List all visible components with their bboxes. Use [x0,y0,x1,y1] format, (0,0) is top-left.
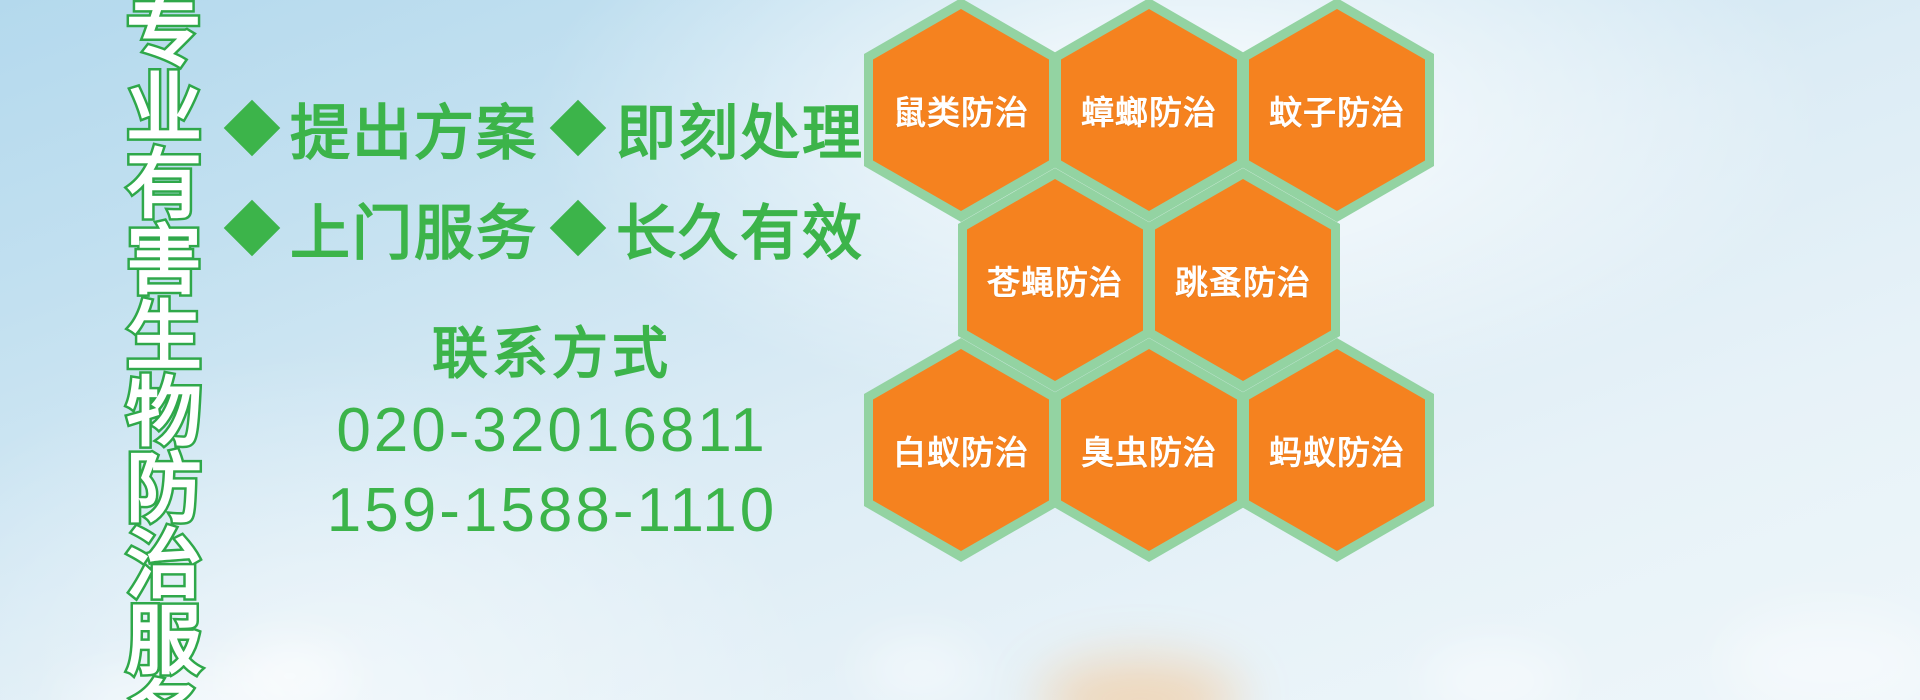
service-label: 蚂蚁防治 [1240,338,1434,562]
mobile-phone-number[interactable]: 159-1588-1110 [232,471,872,550]
feature-item: 提出方案 [232,85,538,172]
service-label: 臭虫防治 [1052,338,1246,562]
vertical-slogan: 专 业 有 害 生 物 防 治 服 务 [112,0,216,700]
service-honeycomb: 鼠类防治 蟑螂防治 蚊子防治 苍蝇防治 跳蚤防治 白蚁防治 [856,0,1456,700]
bokeh-light-blob [1720,610,1920,700]
vertical-slogan-char: 治 [126,528,202,604]
feature-label: 提出方案 [290,85,538,172]
feature-row: 上门服务 长久有效 [232,178,872,278]
service-hex-bedbug[interactable]: 臭虫防治 [1052,338,1246,562]
contact-title: 联系方式 [232,320,872,387]
vertical-slogan-char: 专 [126,0,202,72]
vertical-slogan-char: 业 [126,72,202,148]
feature-row: 提出方案 即刻处理 [232,78,872,178]
vertical-slogan-char: 有 [126,148,202,224]
diamond-icon [224,200,281,257]
diamond-icon [550,100,607,157]
vertical-slogan-char: 服 [126,604,202,680]
diamond-icon [224,100,281,157]
feature-label: 即刻处理 [616,85,864,172]
vertical-slogan-char: 生 [126,300,202,376]
pest-control-banner: 专 业 有 害 生 物 防 治 服 务 提出方案 即刻处理 上门服务 [0,0,1920,700]
feature-item: 即刻处理 [558,85,864,172]
vertical-slogan-char: 害 [126,224,202,300]
service-hex-termite[interactable]: 白蚁防治 [864,338,1058,562]
bokeh-light-blob [230,648,350,700]
vertical-slogan-char: 物 [126,376,202,452]
feature-list: 提出方案 即刻处理 上门服务 长久有效 [232,78,872,278]
diamond-icon [550,200,607,257]
vertical-slogan-char: 务 [126,680,202,700]
feature-label: 上门服务 [290,185,538,272]
service-label: 白蚁防治 [864,338,1058,562]
feature-item: 上门服务 [232,185,538,272]
contact-block: 联系方式 020-32016811 159-1588-1110 [232,320,872,550]
landline-phone-number[interactable]: 020-32016811 [232,391,872,470]
feature-label: 长久有效 [616,185,864,272]
vertical-slogan-char: 防 [126,452,202,528]
service-hex-ant[interactable]: 蚂蚁防治 [1240,338,1434,562]
feature-item: 长久有效 [558,185,864,272]
